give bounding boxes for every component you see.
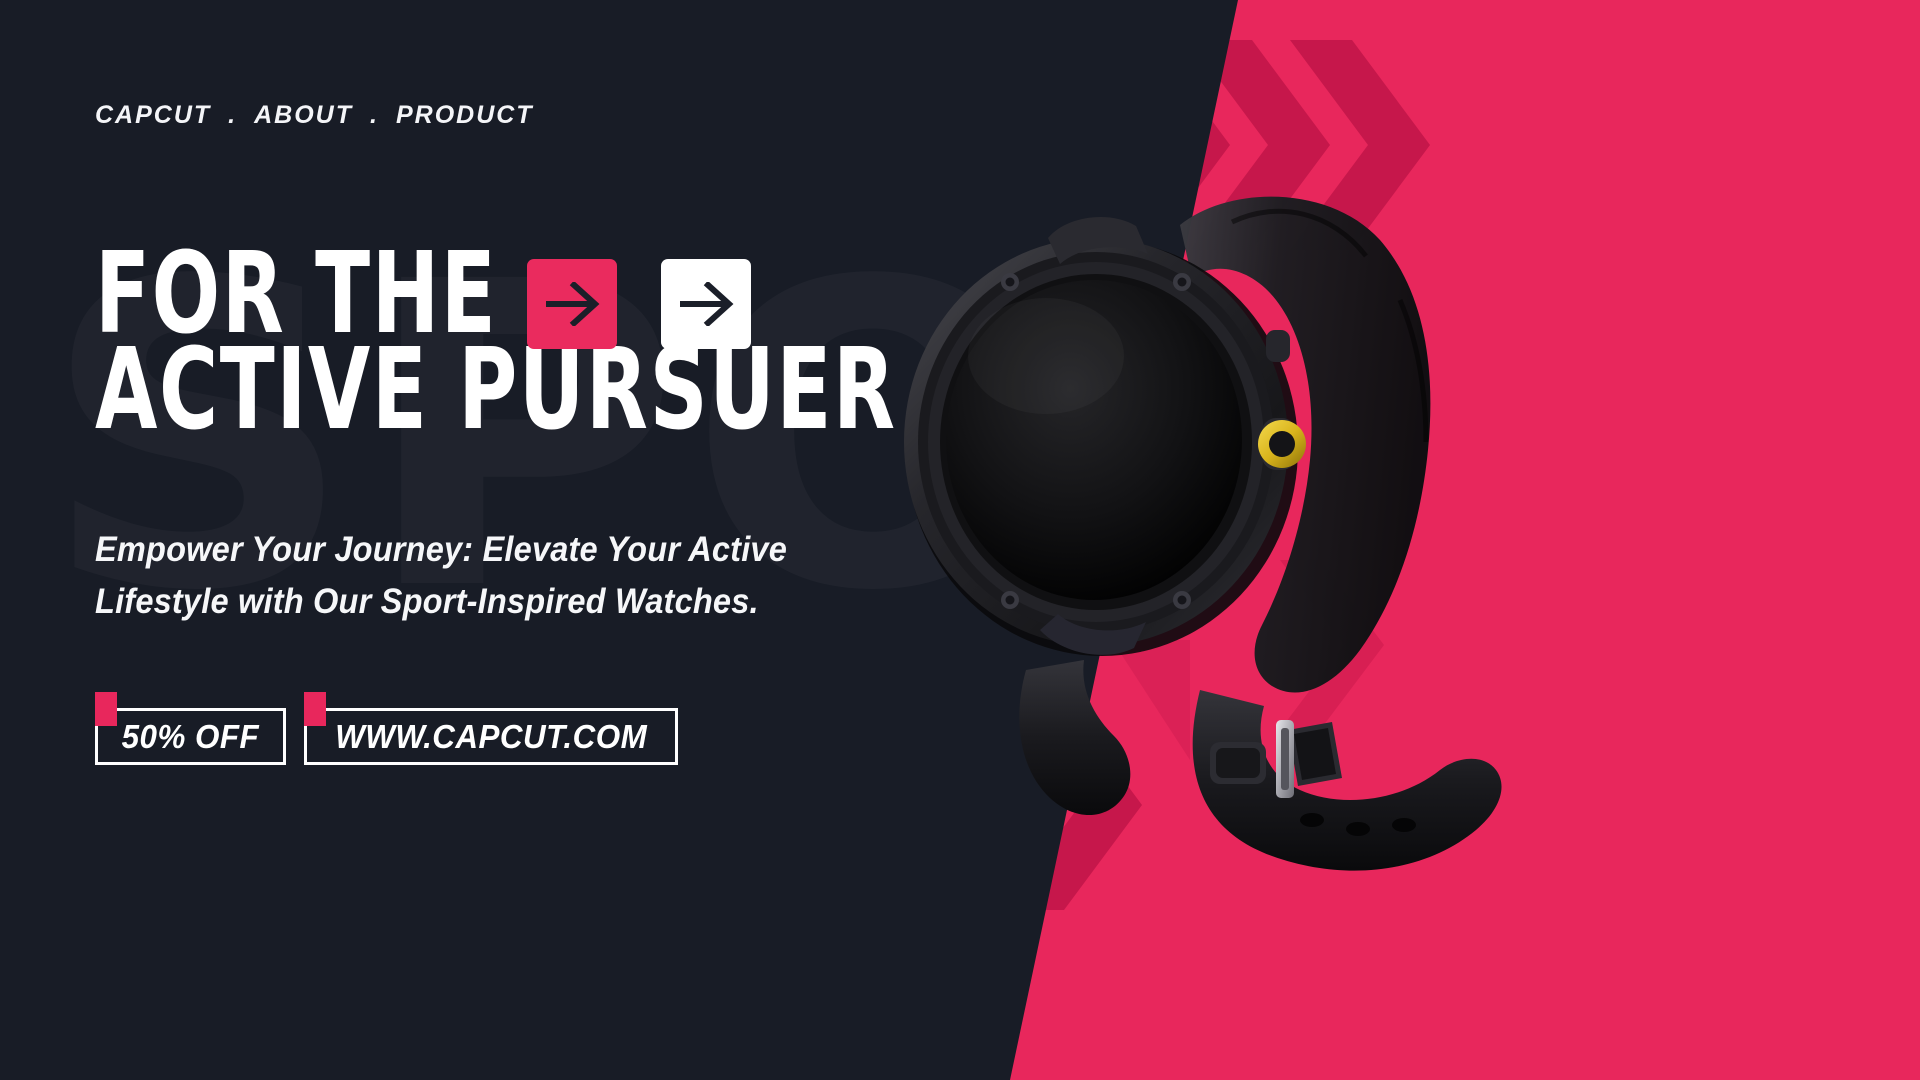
badge-chip-square: [304, 692, 326, 726]
badge-website-box[interactable]: WWW.CAPCUT.COM: [304, 708, 678, 765]
nav-item-about[interactable]: ABOUT: [254, 101, 353, 130]
subtitle-line-1: Empower Your Journey: Elevate Your Activ…: [95, 524, 787, 576]
badge-website[interactable]: WWW.CAPCUT.COM: [304, 708, 678, 765]
watch-case: [904, 238, 1298, 656]
nav-separator-1: .: [211, 101, 254, 130]
subtitle-line-2: Lifestyle with Our Sport-Inspired Watche…: [95, 576, 787, 628]
badge-discount[interactable]: 50% OFF: [95, 708, 286, 765]
arrow-button-group: [527, 259, 751, 349]
nav-item-product[interactable]: PRODUCT: [396, 101, 534, 130]
badge-row: 50% OFF WWW.CAPCUT.COM: [95, 708, 678, 765]
badge-chip-square: [95, 692, 117, 726]
watch-crown-button: [1258, 418, 1306, 470]
arrow-right-icon: [543, 282, 601, 326]
smartwatch-illustration-icon: [880, 130, 1520, 890]
product-image-smartwatch: [880, 130, 1520, 890]
badge-discount-label: 50% OFF: [122, 718, 259, 756]
arrow-right-pink-button[interactable]: [527, 259, 617, 349]
badge-discount-box[interactable]: 50% OFF: [95, 708, 286, 765]
arrow-right-white-button[interactable]: [661, 259, 751, 349]
badge-website-label: WWW.CAPCUT.COM: [335, 718, 647, 756]
nav-separator-2: .: [353, 101, 396, 130]
subtitle-block: Empower Your Journey: Elevate Your Activ…: [95, 524, 787, 628]
top-navigation: CAPCUT . ABOUT . PRODUCT: [95, 101, 534, 130]
watch-buckle: [1276, 720, 1294, 798]
arrow-right-icon: [677, 282, 735, 326]
banner-canvas: SPO CAPCUT . ABOUT . PRODUCT FOR THE ACT…: [0, 0, 1920, 1080]
nav-item-capcut[interactable]: CAPCUT: [95, 101, 211, 130]
headline-line-2: ACTIVE PURSUER: [95, 338, 897, 442]
